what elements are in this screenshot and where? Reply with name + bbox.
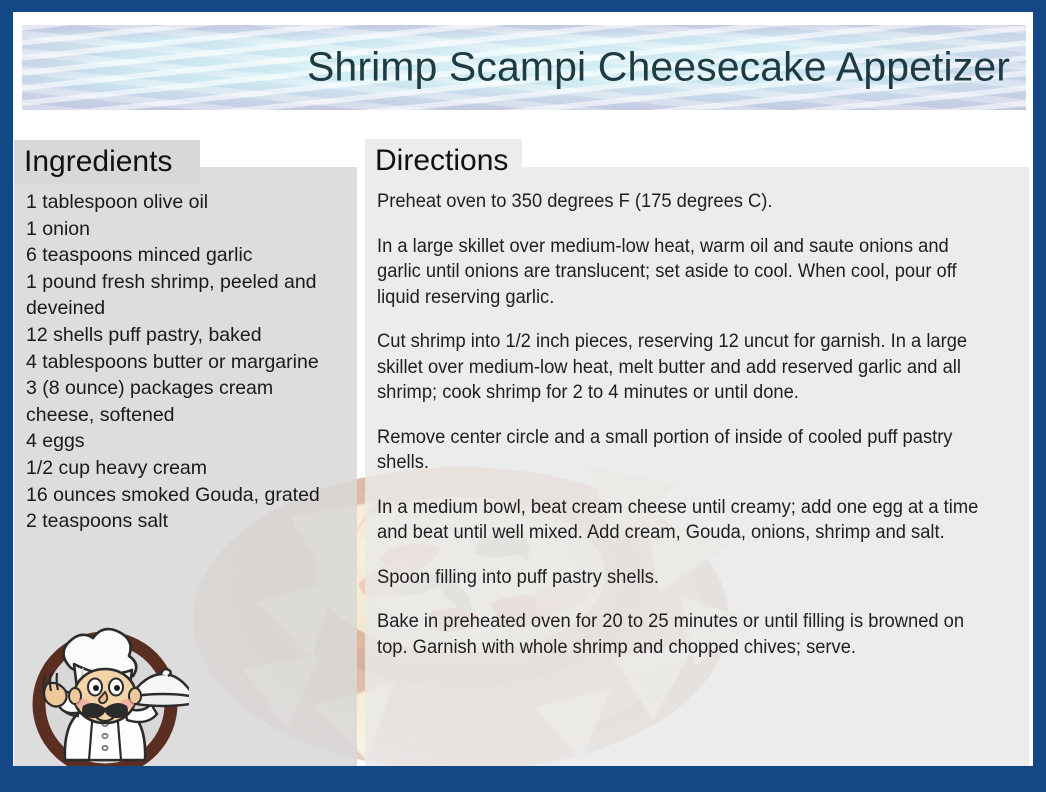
- directions-steps: Preheat oven to 350 degrees F (175 degre…: [377, 189, 995, 660]
- direction-step: Bake in preheated oven for 20 to 25 minu…: [377, 609, 995, 660]
- ingredient-item: 1 pound fresh shrimp, peeled and deveine…: [26, 269, 345, 322]
- direction-step: Spoon filling into puff pastry shells.: [377, 565, 995, 591]
- title-banner: Shrimp Scampi Cheesecake Appetizer: [22, 25, 1026, 110]
- chef-mascot-artwork: [21, 620, 189, 766]
- ingredient-item: 2 teaspoons salt: [26, 508, 345, 535]
- directions-column: Directions Preheat oven to 350 degrees F…: [365, 167, 1029, 766]
- directions-content: Preheat oven to 350 degrees F (175 degre…: [365, 167, 1029, 670]
- chef-mascot-logo: [21, 620, 189, 766]
- ingredient-item: 6 teaspoons minced garlic: [26, 242, 345, 269]
- ingredient-item: 4 tablespoons butter or margarine: [26, 349, 345, 376]
- ingredient-item: 1 tablespoon olive oil: [26, 189, 345, 216]
- recipe-card: Shrimp Scampi Cheesecake Appetizer: [0, 0, 1046, 792]
- ingredient-item: 3 (8 ounce) packages cream cheese, softe…: [26, 375, 345, 428]
- ingredient-item: 12 shells puff pastry, baked: [26, 322, 345, 349]
- direction-step: Cut shrimp into 1/2 inch pieces, reservi…: [377, 329, 995, 406]
- ingredients-content: 1 tablespoon olive oil 1 onion 6 teaspoo…: [14, 167, 357, 545]
- ingredient-item: 1/2 cup heavy cream: [26, 455, 345, 482]
- direction-step: Preheat oven to 350 degrees F (175 degre…: [377, 189, 995, 215]
- page-title: Shrimp Scampi Cheesecake Appetizer: [307, 46, 1010, 87]
- recipe-page: Shrimp Scampi Cheesecake Appetizer: [13, 12, 1033, 766]
- direction-step: In a medium bowl, beat cream cheese unti…: [377, 495, 995, 546]
- ingredient-item: 4 eggs: [26, 428, 345, 455]
- ingredient-item: 1 onion: [26, 216, 345, 243]
- direction-step: In a large skillet over medium-low heat,…: [377, 234, 995, 311]
- ingredient-item: 16 ounces smoked Gouda, grated: [26, 482, 345, 509]
- ingredients-list: 1 tablespoon olive oil 1 onion 6 teaspoo…: [26, 189, 345, 535]
- direction-step: Remove center circle and a small portion…: [377, 425, 995, 476]
